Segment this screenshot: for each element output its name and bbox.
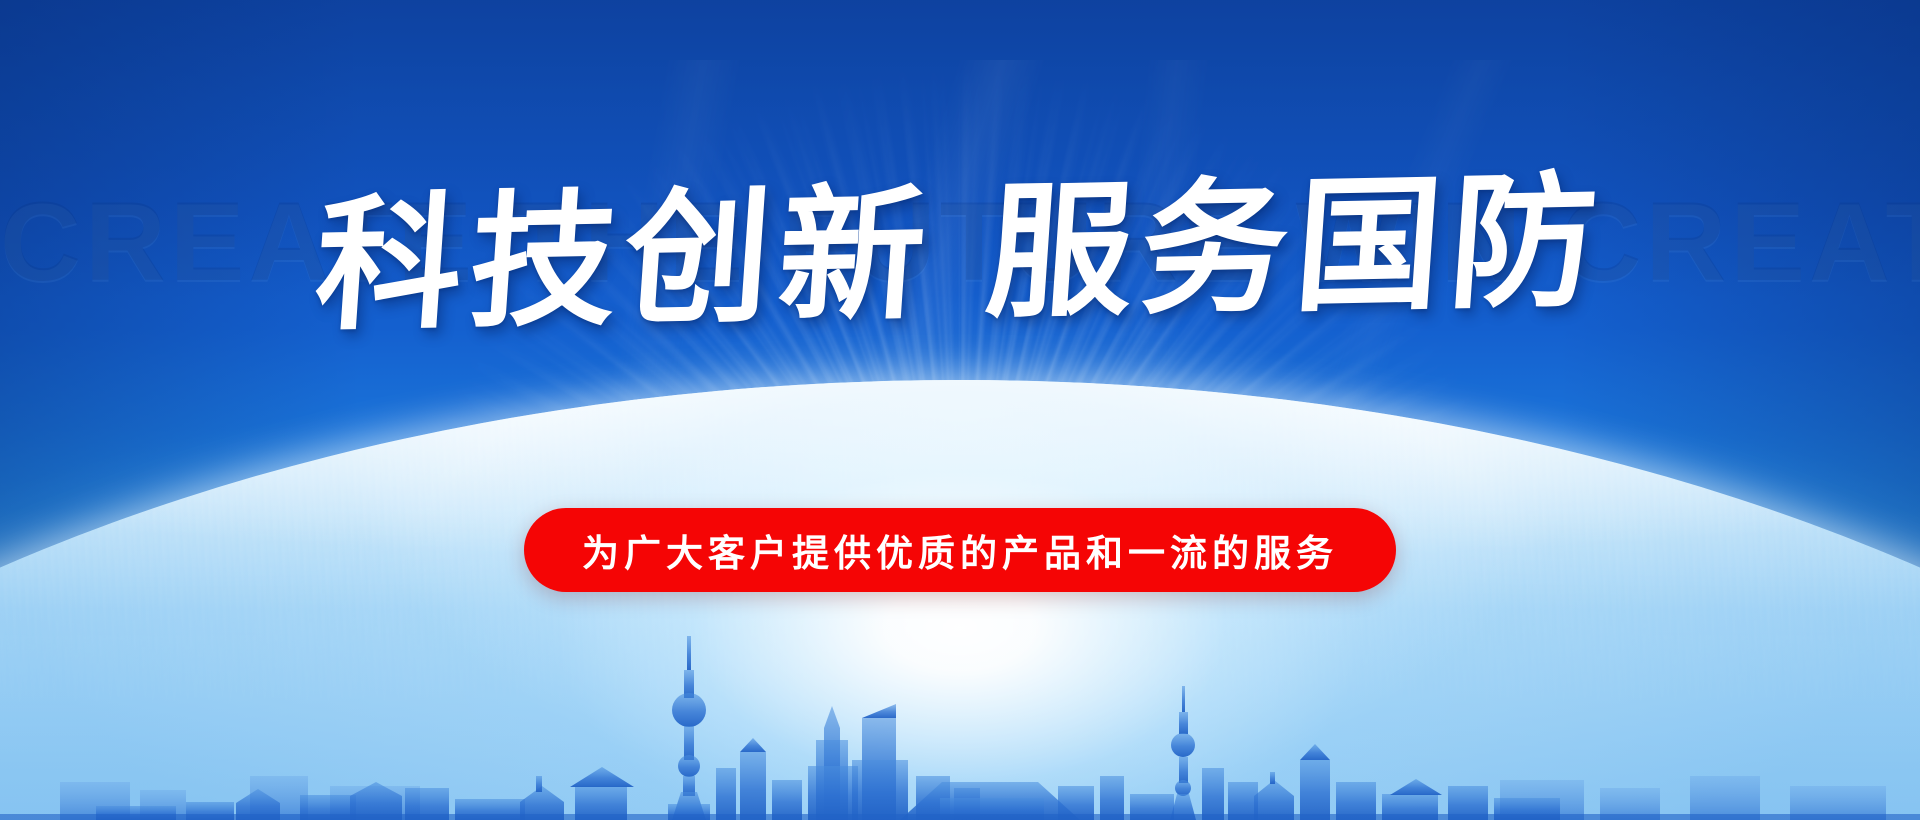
subtitle-pill: 为广大客户提供优质的产品和一流的服务 xyxy=(524,508,1396,592)
earth-curve xyxy=(0,380,1920,820)
headline-spacer xyxy=(930,303,984,304)
headline-part-b: 服务国防 xyxy=(981,157,1610,339)
hero-banner: CREATE THE FUTURE WIN CREATION 科技创新服务国防 … xyxy=(0,0,1920,820)
headline-part-a: 科技创新 xyxy=(310,170,939,352)
subtitle-pill-wrapper: 为广大客户提供优质的产品和一流的服务 xyxy=(0,508,1920,592)
